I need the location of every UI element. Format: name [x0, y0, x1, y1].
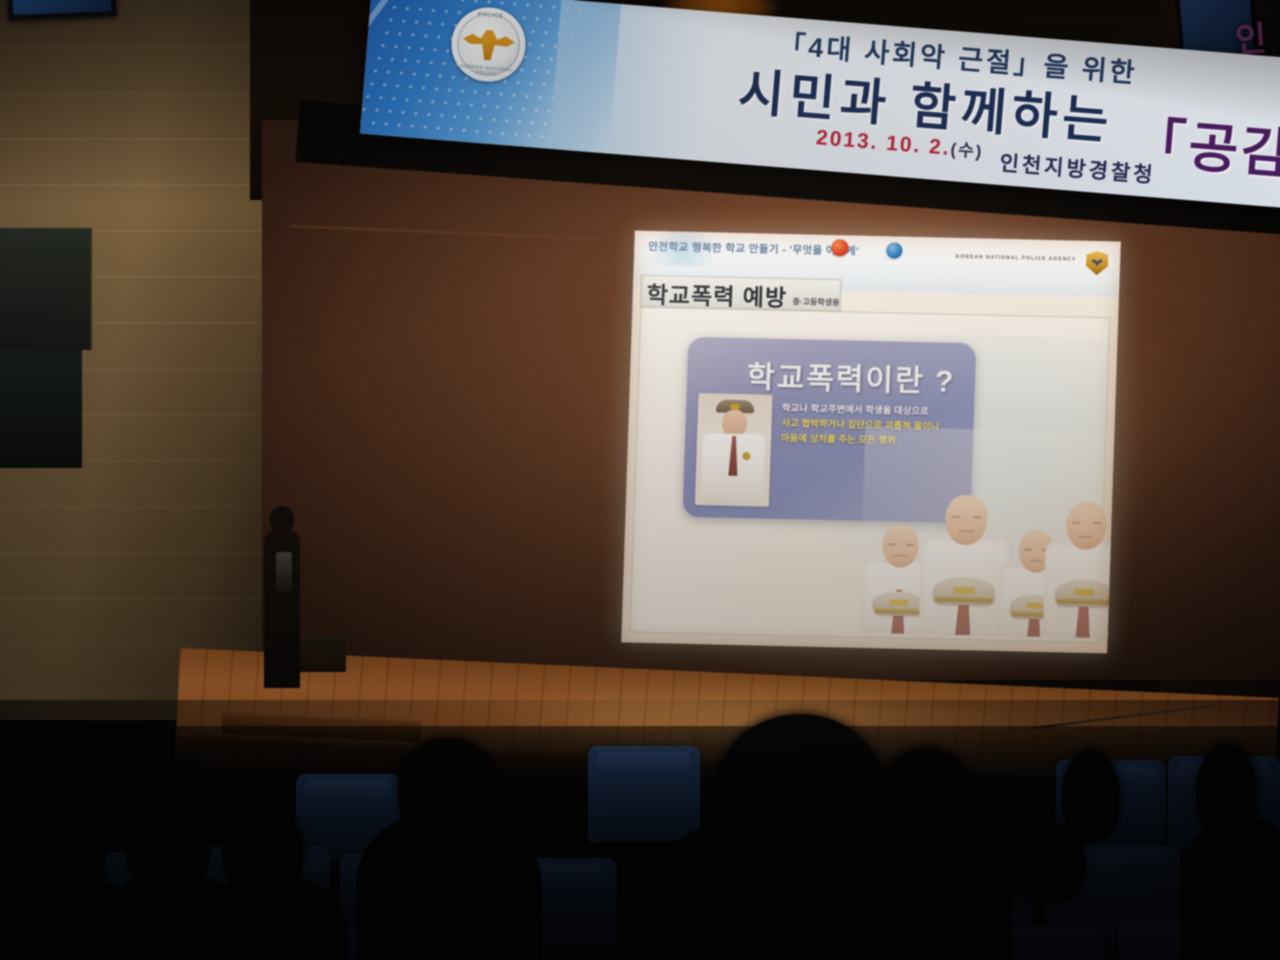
wall-dark-panel-lower: [0, 350, 82, 468]
slide-inner: 안전학교 행복한 학교 만들기 - '무엇을 어떻게' KOREAN NATIO…: [621, 231, 1121, 654]
frame-pane: [13, 0, 112, 15]
banner-line-3: 「공감설명회」: [1129, 98, 1280, 207]
slide-subtitle: 중·고등학생용: [792, 296, 839, 308]
officer-uniform: [701, 433, 765, 506]
banner-gradient-fade: [549, 0, 711, 161]
auditorium-scene: 인 POLICE KOREAN NATIONAL POLICE 「4대 사회악 …: [0, 0, 1280, 960]
officer-necktie: [728, 436, 738, 476]
projected-slide: 안전학교 행복한 학교 만들기 - '무엇을 어떻게' KOREAN NATIO…: [621, 231, 1121, 654]
presenter-silhouette: [262, 506, 304, 688]
banner-weekday: (수): [950, 140, 984, 162]
wall-dark-panel: [0, 228, 92, 350]
female-officer-photo: [695, 393, 773, 507]
officers-group-photo: [859, 427, 1112, 638]
definition-line-1: 학교나 학교주변에서 학생을 대상으로: [782, 401, 962, 420]
officer-cap-icon: [716, 399, 754, 413]
audience-vignette: [0, 700, 1280, 960]
slide-body: 학교폭력이란 ? 학교나 학교주변에서 학생을 대상으로 사고 협박하거나 집단…: [630, 307, 1111, 643]
photo-overexposure-wash: [859, 427, 1112, 638]
officer-face: [722, 410, 748, 439]
officer-badge-icon: [742, 452, 750, 460]
presenter-shirt: [276, 552, 292, 592]
definition-question: 학교폭력이란 ?: [746, 352, 956, 401]
